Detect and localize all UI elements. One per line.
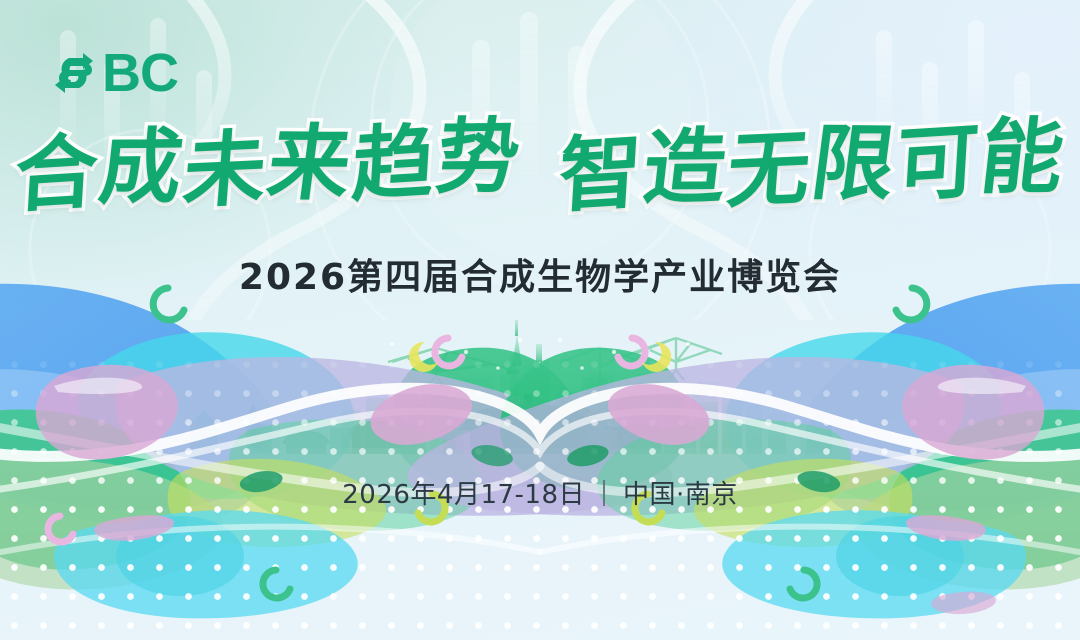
brand-logo[interactable]: BC	[52, 46, 178, 100]
headline-line-2: 智造无限可能	[555, 119, 1068, 215]
event-poster: BC 合成未来趋势智造无限可能 2026第四届合成生物学产业博览会 2026年4…	[0, 0, 1080, 640]
event-info: 2026年4月17-18日 中国·南京	[0, 474, 1080, 511]
logo-text: BC	[102, 46, 178, 100]
crescent-icon	[153, 288, 927, 598]
event-location: 中国·南京	[623, 474, 738, 511]
headline-line-1: 合成未来趋势	[11, 119, 524, 215]
separator	[603, 480, 605, 506]
poster-subtitle: 2026第四届合成生物学产业博览会	[0, 248, 1080, 300]
recycle-s-arrows-icon	[52, 48, 96, 98]
event-date: 2026年4月17-18日	[342, 474, 585, 511]
poster-headline: 合成未来趋势智造无限可能	[0, 126, 1080, 208]
